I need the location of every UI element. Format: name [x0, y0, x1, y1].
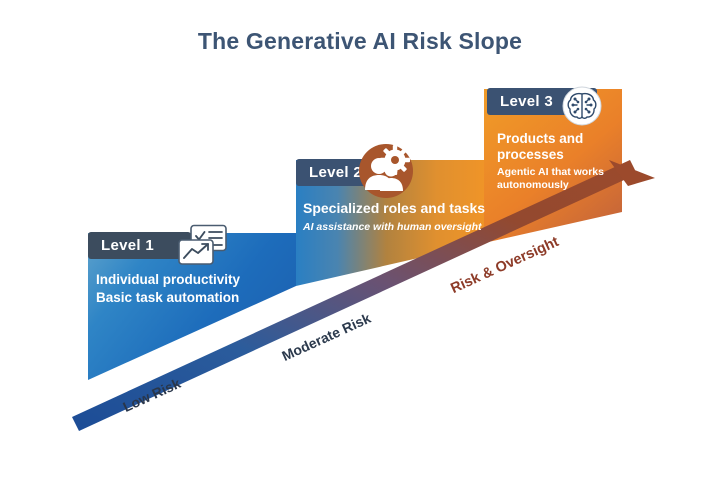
level-2-main-text: Specialized roles and tasks [303, 200, 503, 217]
level-1-header: Level 1 [88, 232, 191, 259]
document-chart-icon [177, 224, 229, 266]
brain-circuit-icon [562, 86, 602, 126]
level-1-body: Individual productivity Basic task autom… [96, 272, 281, 306]
level-2-sub-text: AI assistance with human oversight [303, 221, 503, 234]
level-2-header-label: Level 2 [309, 164, 362, 181]
level-3-body: Products and processes Agentic AI that w… [497, 131, 637, 192]
infographic-canvas: The Generative AI Risk Slope Level 1 Ind… [0, 0, 720, 480]
level-3-header-label: Level 3 [500, 93, 553, 110]
level-2-body: Specialized roles and tasks AI assistanc… [303, 200, 503, 233]
level-1-sub-text: Basic task automation [96, 290, 281, 306]
level-3-main-text: Products and processes [497, 131, 637, 163]
level-1-main-text: Individual productivity [96, 272, 281, 288]
level-3-sub-text: Agentic AI that works autonomously [497, 166, 637, 192]
level-1-header-label: Level 1 [101, 237, 154, 254]
people-gear-icon [357, 142, 415, 200]
page-title: The Generative AI Risk Slope [0, 28, 720, 55]
